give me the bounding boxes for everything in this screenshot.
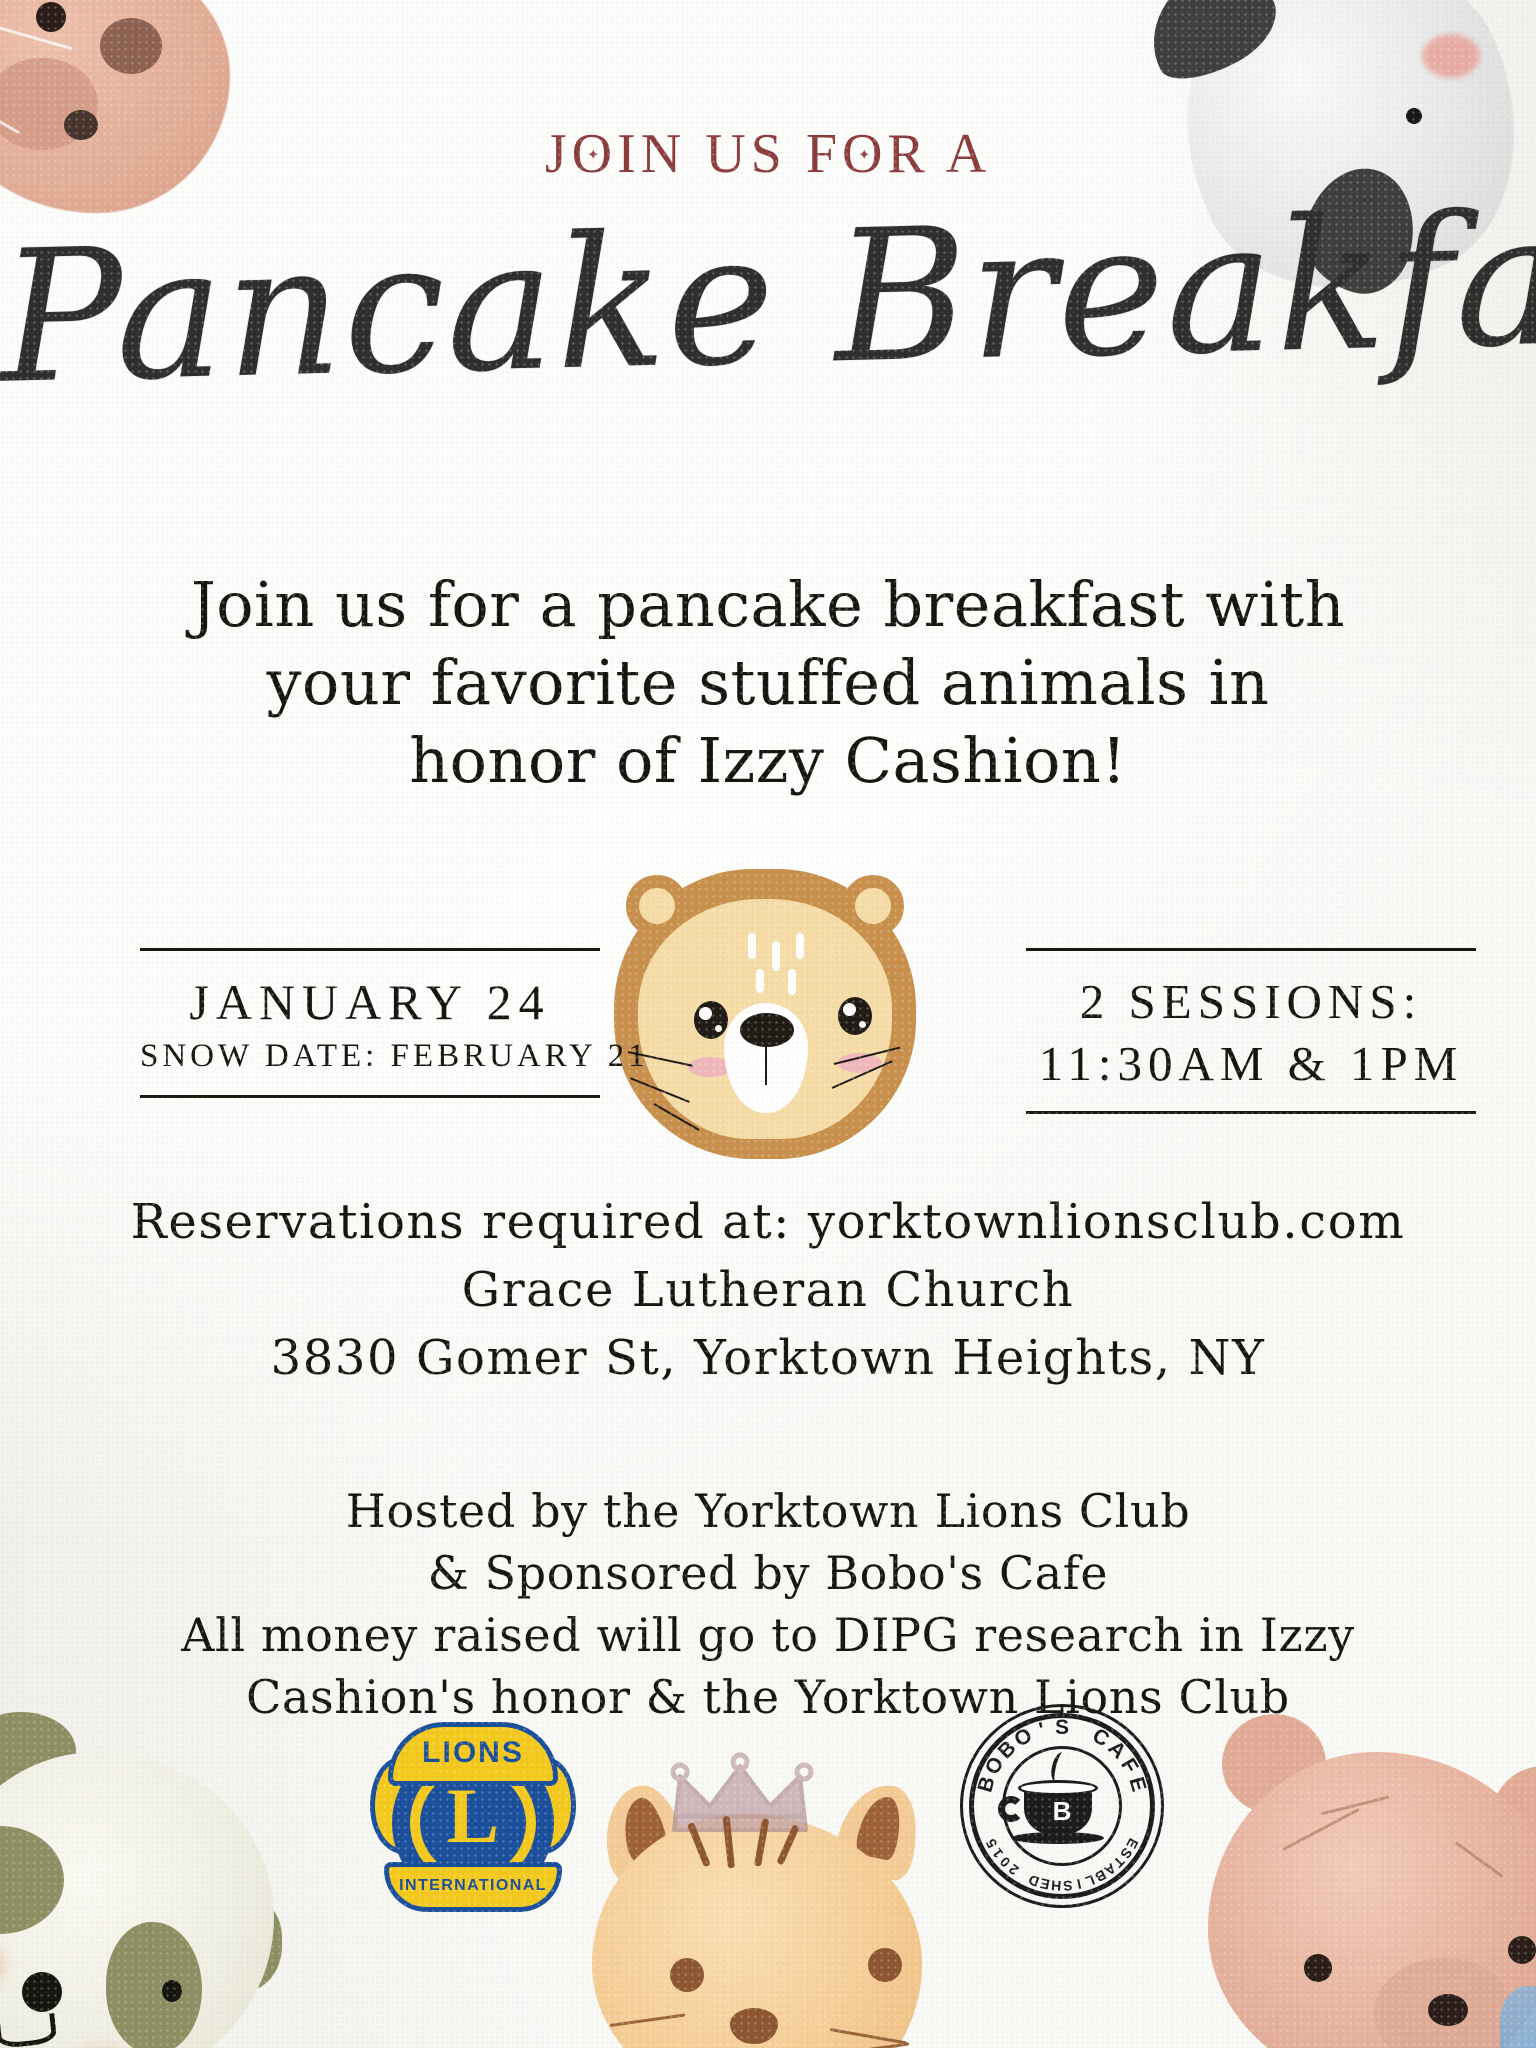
divider-rule (1026, 1111, 1476, 1114)
sessions-block: 2 SESSIONS: 11:30AM & 1PM (1026, 948, 1476, 1114)
decorative-diamond-icon: ✦ (587, 148, 601, 162)
divider-rule (1026, 948, 1476, 951)
beneficiary-line-2: Cashion's honor & the Yorktown Lions Clu… (30, 1666, 1506, 1728)
date-block: JANUARY 24 SNOW DATE: FEBRUARY 21 (140, 948, 600, 1098)
intro-line: your favorite stuffed animals in (44, 644, 1492, 722)
venue-address: 3830 Gomer St, Yorktown Heights, NY (30, 1324, 1506, 1392)
event-details: Reservations required at: yorktownlionsc… (30, 1188, 1506, 1392)
intro-line: honor of Izzy Cashion! (44, 722, 1492, 800)
page-title: Pancake Breakfast (0, 171, 1536, 427)
sessions-label: 2 SESSIONS: (1026, 971, 1476, 1033)
event-date: JANUARY 24 (140, 971, 600, 1033)
eyebrow-label: JO✦IN US FO✦R A (545, 123, 991, 185)
beneficiary-line-1: All money raised will go to DIPG researc… (30, 1604, 1506, 1666)
divider-rule (140, 1095, 600, 1098)
decorative-diamond-icon: ✦ (858, 148, 872, 162)
divider-rule (140, 948, 600, 951)
host-line: Hosted by the Yorktown Lions Club (30, 1480, 1506, 1542)
snow-date: SNOW DATE: FEBRUARY 21 (140, 1033, 600, 1079)
intro-line: Join us for a pancake breakfast with (44, 566, 1492, 644)
credits-block: Hosted by the Yorktown Lions Club & Spon… (30, 1480, 1506, 1728)
reservations-line[interactable]: Reservations required at: yorktownlionsc… (30, 1188, 1506, 1256)
sponsor-line: & Sponsored by Bobo's Cafe (30, 1542, 1506, 1604)
venue-name: Grace Lutheran Church (30, 1256, 1506, 1324)
eyebrow-text: JO✦IN US FO✦R A (0, 126, 1536, 182)
date-session-band: JANUARY 24 SNOW DATE: FEBRUARY 21 2 SESS… (0, 948, 1536, 1158)
poster-canvas: L LIONS INTERNATIONAL B BOBO'S CAFE ESTA… (0, 0, 1536, 2048)
poster-content: JO✦IN US FO✦R A Pancake Breakfast Join u… (0, 0, 1536, 2048)
intro-paragraph: Join us for a pancake breakfast with you… (44, 566, 1492, 800)
session-times: 11:30AM & 1PM (1026, 1033, 1476, 1095)
